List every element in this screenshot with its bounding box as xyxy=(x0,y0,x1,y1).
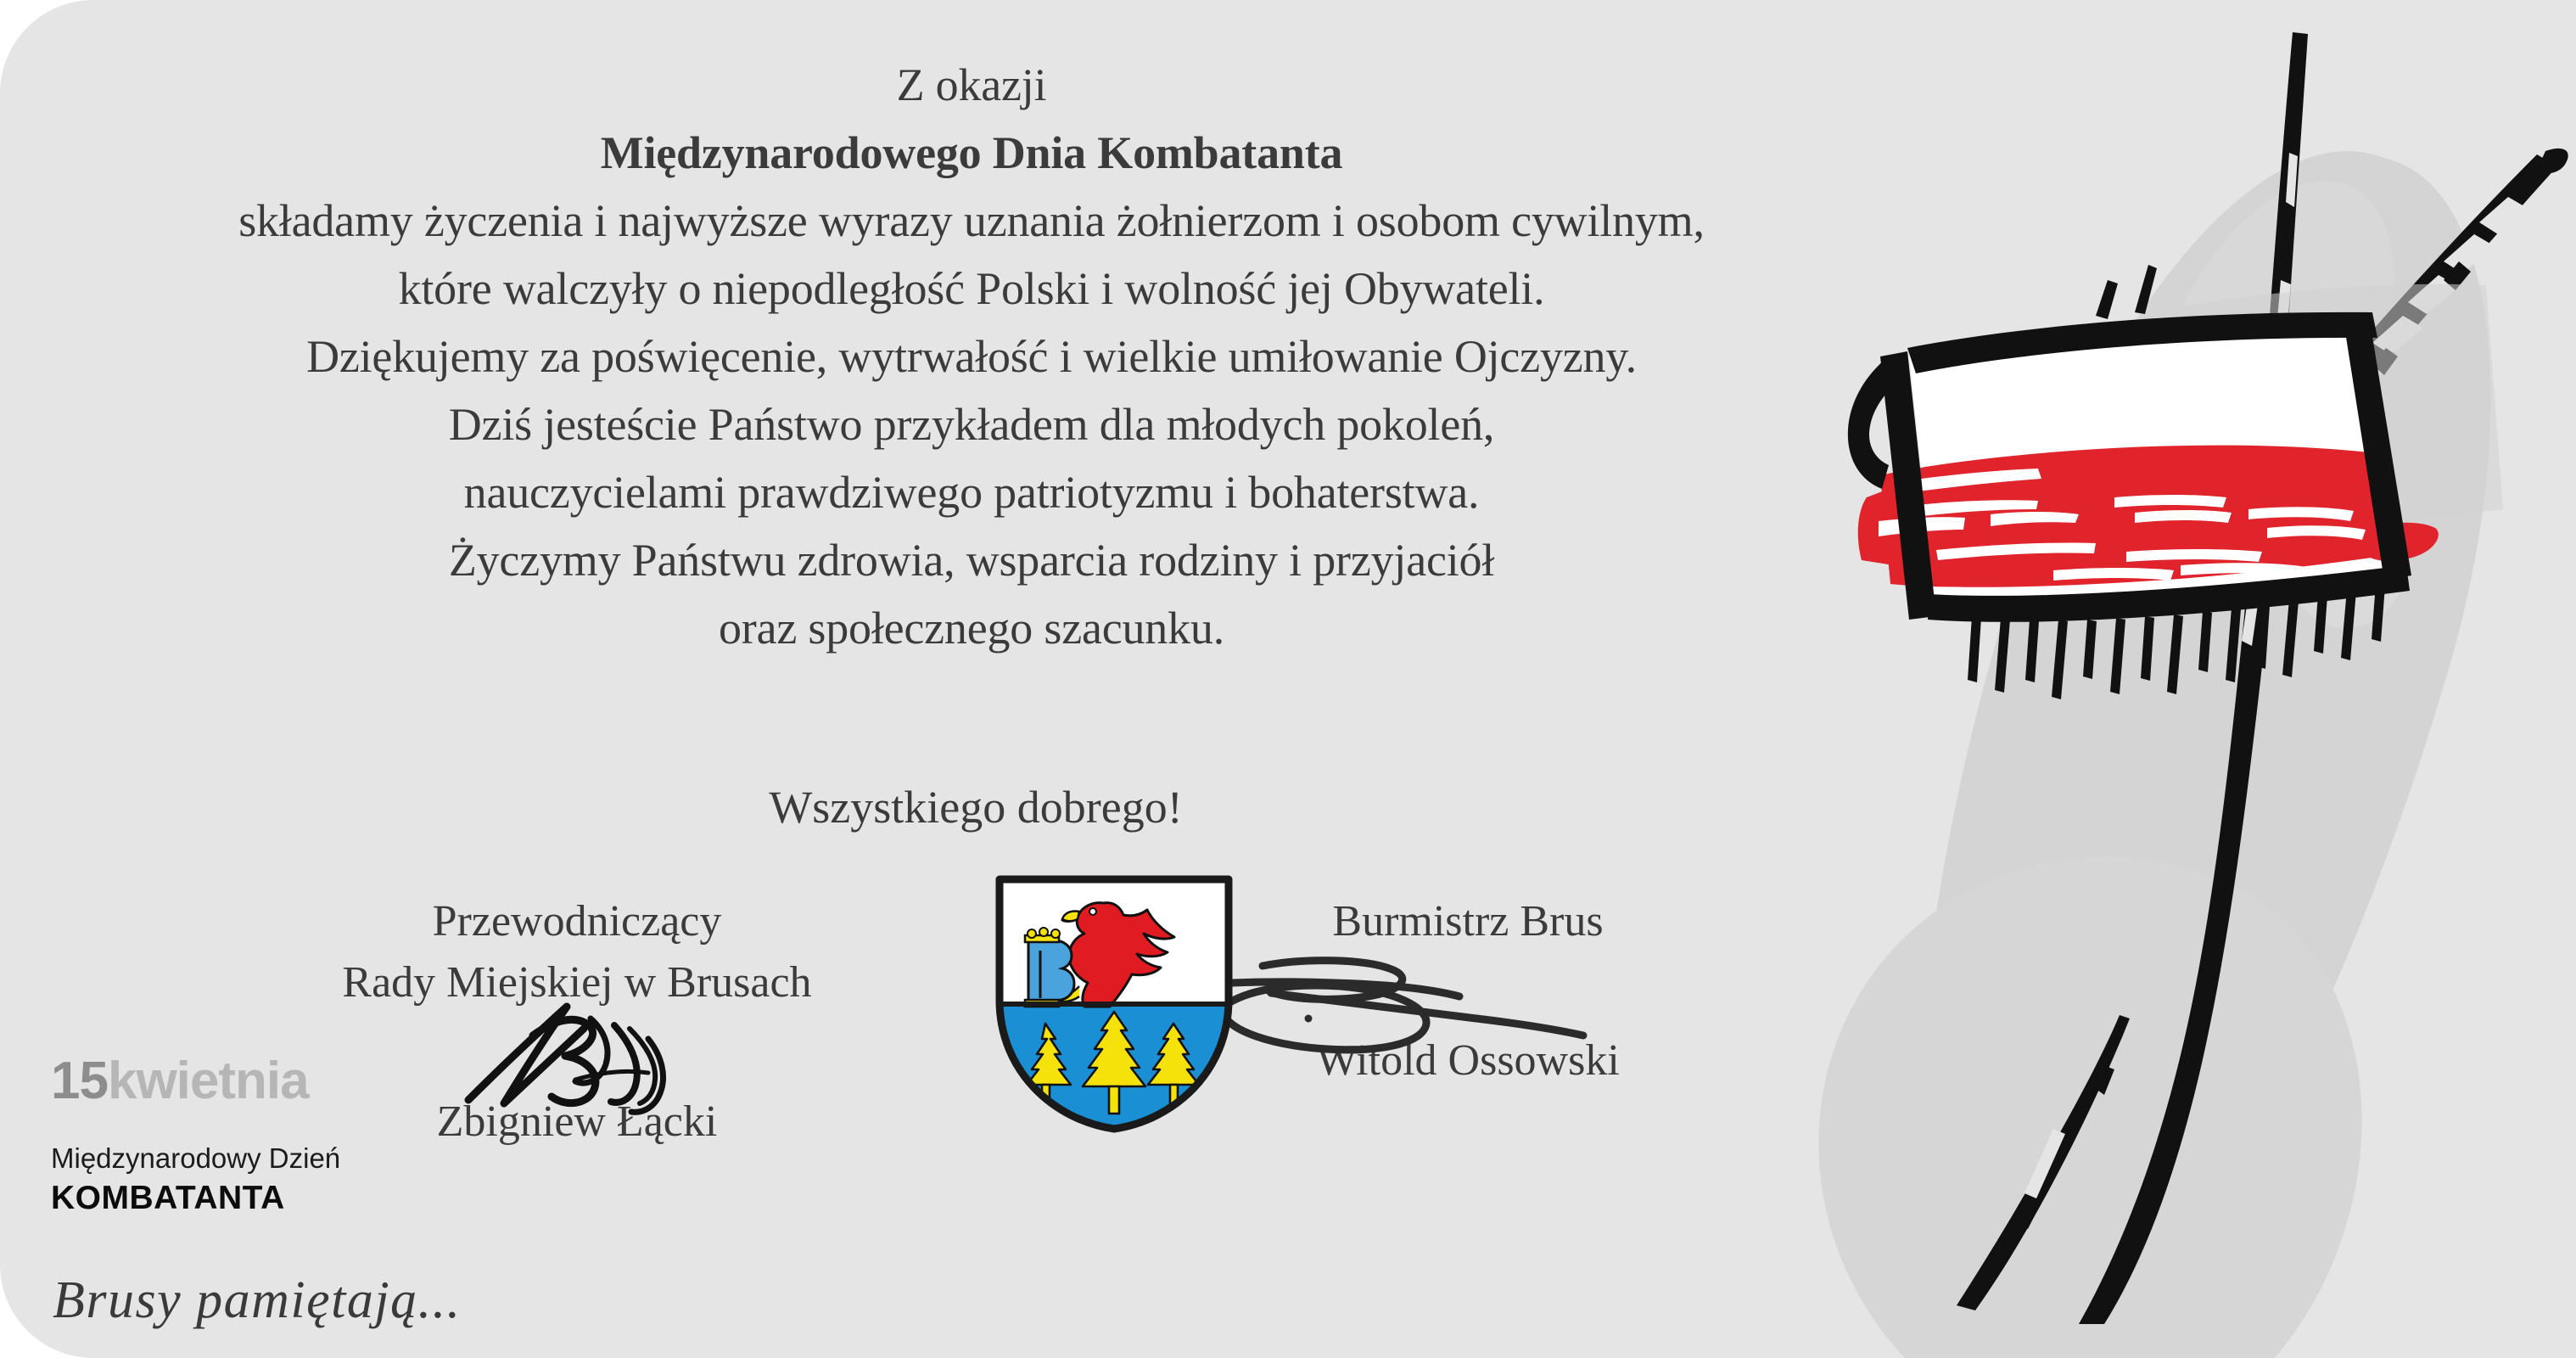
left-signer-title-line1: Przewodniczący xyxy=(238,891,916,952)
logo-subtitle-line2: KOMBATANTA xyxy=(51,1178,577,1219)
closing-line: Wszystkiego dobrego! xyxy=(127,781,1824,833)
logo-date-number: 15 xyxy=(51,1052,108,1110)
greeting-message: Z okazji Międzynarodowego Dnia Kombatant… xyxy=(127,51,1816,662)
message-line-4: które walczyły o niepodległość Polski i … xyxy=(127,255,1816,323)
left-signer-title-line2: Rady Miejskiej w Brusach xyxy=(238,952,916,1013)
polish-flag-banner-illustration xyxy=(1655,0,2576,1358)
message-line-7: nauczycielami prawdziwego patriotyzmu i … xyxy=(127,458,1816,526)
coat-of-arms-brusy xyxy=(991,873,1237,1136)
greeting-card: Z okazji Międzynarodowego Dnia Kombatant… xyxy=(0,0,2576,1358)
logo-date-month: kwietnia xyxy=(108,1052,309,1110)
message-line-5: Dziękujemy za poświęcenie, wytrwałość i … xyxy=(127,323,1816,390)
message-line-8: Życzymy Państwu zdrowia, wsparcia rodzin… xyxy=(127,526,1816,594)
logo-date: 15kwietnia xyxy=(51,1052,577,1110)
message-line-3: składamy życzenia i najwyższe wyrazy uzn… xyxy=(127,187,1816,255)
message-line-2: Międzynarodowego Dnia Kombatanta xyxy=(127,119,1816,187)
message-line-6: Dziś jesteście Państwo przykładem dla mł… xyxy=(127,390,1816,458)
logo-subtitle-line1: Międzynarodowy Dzień xyxy=(51,1139,577,1178)
message-line-9: oraz społecznego szacunku. xyxy=(127,594,1816,662)
campaign-logo: 15kwietnia Międzynarodowy Dzień KOMBATAN… xyxy=(51,1052,577,1350)
logo-script-brusy-pamietaja: Brusy pamiętają... xyxy=(51,1253,501,1346)
message-line-1: Z okazji xyxy=(127,51,1816,119)
logo-script-text: Brusy pamiętają... xyxy=(53,1271,462,1329)
